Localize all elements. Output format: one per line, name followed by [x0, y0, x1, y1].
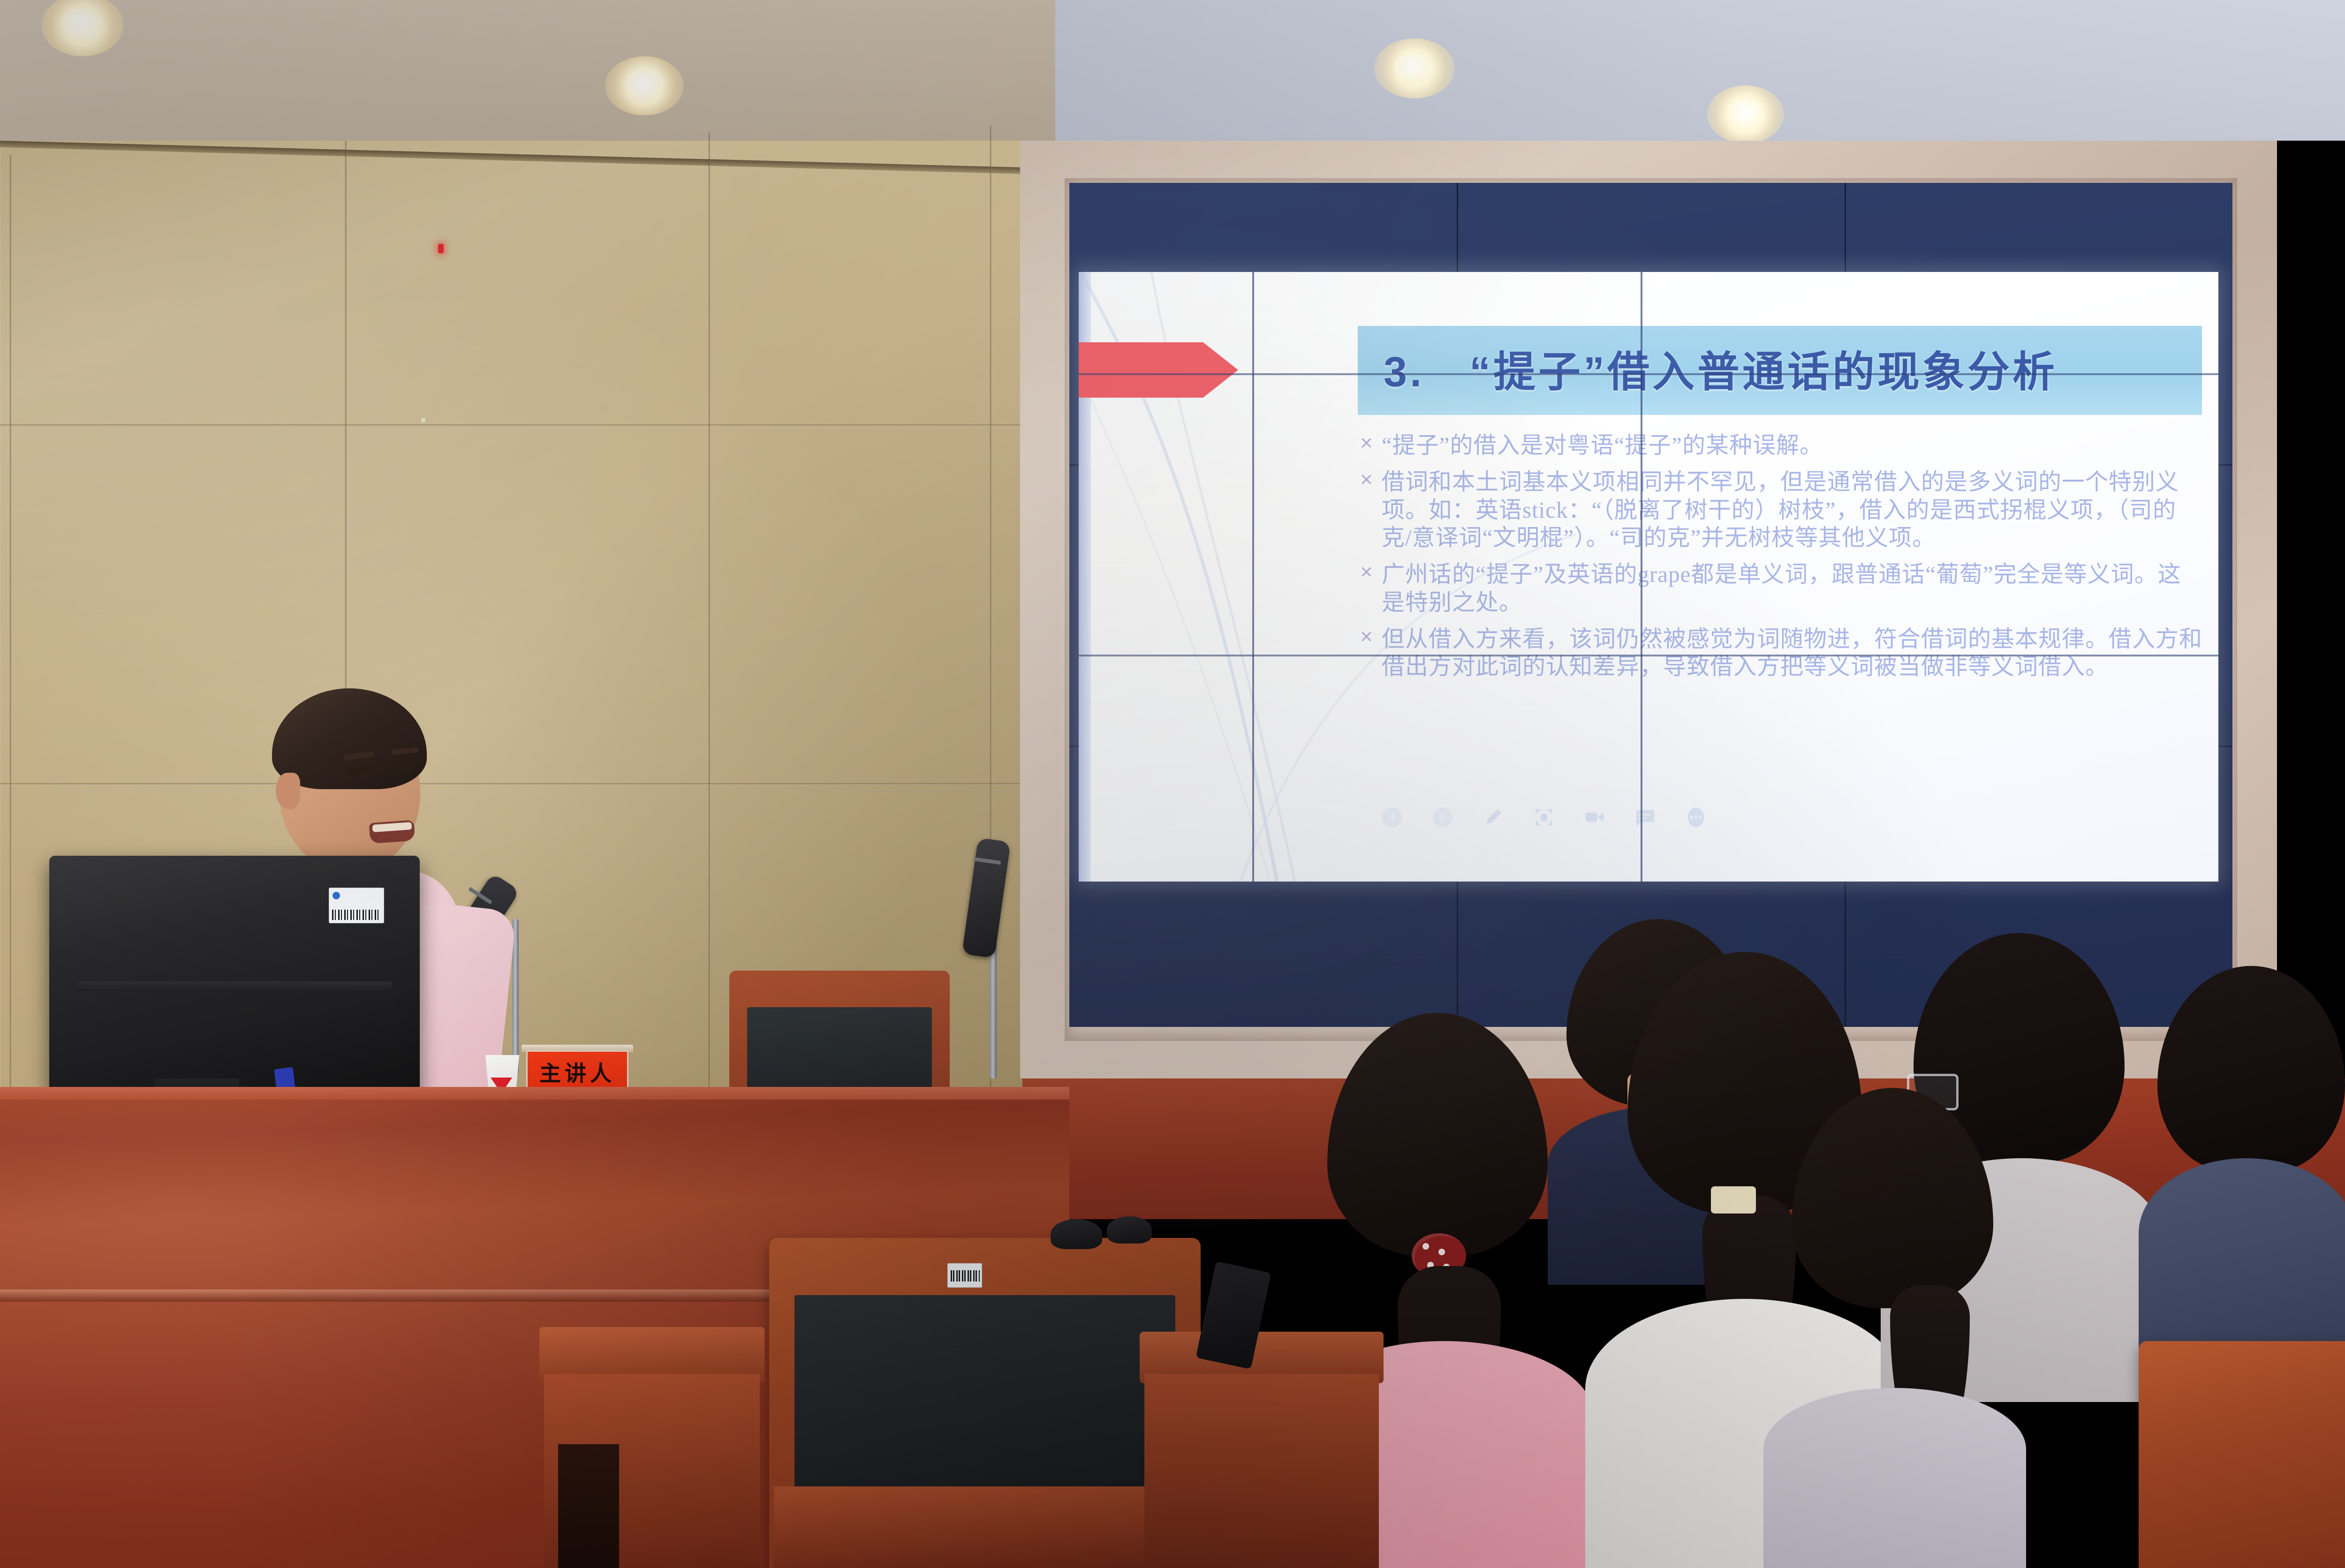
ceiling-right: [1055, 0, 2345, 141]
monitor-asset-label-logo: [333, 892, 340, 899]
bullet-text-3: 广州话的“提子”及英语的grape都是单义词，跟普通话“葡萄”完全是等义词。这是…: [1382, 560, 2204, 617]
wall-screw-cap: [421, 418, 425, 422]
audience-person-6-hair: [1792, 1088, 1993, 1308]
wall-seam-v-1: [9, 155, 12, 1107]
lecture-hall-photo: 3. “提子”借入普通话的现象分析 × “提子”的借入是对粤语“提子”的某种误解…: [0, 0, 2345, 1568]
wall-seam-h-1: [0, 424, 1074, 427]
auditorium-desk-left-shadow-gap: [558, 1444, 619, 1568]
auditorium-desk-right-body: [1144, 1374, 1379, 1568]
subtitle-caption-icon[interactable]: [1634, 807, 1656, 828]
pen-annotate-icon[interactable]: [1483, 807, 1504, 828]
audience-person-5-hair: [2157, 966, 2345, 1172]
ceiling-downlight-4-core: [1727, 99, 1764, 126]
slide-playback-toolbar[interactable]: [1381, 807, 1707, 828]
presenter-monitor: [49, 856, 420, 1095]
slide-bezel-seam-h-2: [1079, 655, 2218, 656]
auditorium-seat-center-base: [774, 1486, 1196, 1568]
ceiling-downlight-2-core: [625, 70, 663, 98]
headphones-on-seat-2: [1107, 1216, 1152, 1244]
more-options-icon[interactable]: [1685, 807, 1707, 828]
presentation-slide: 3. “提子”借入普通话的现象分析 × “提子”的借入是对粤语“提子”的某种误解…: [1079, 272, 2218, 882]
bullet-marker-icon: ×: [1360, 625, 1382, 648]
auditorium-seat-center-asset-tag: [947, 1263, 982, 1288]
slide-title: 3. “提子”借入普通话的现象分析: [1384, 338, 2200, 399]
monitor-vent: [77, 981, 392, 991]
ceiling-downlight-1-core: [61, 8, 101, 38]
nameplate-text: 主讲人: [539, 1056, 615, 1087]
auditorium-seat-right[interactable]: [2139, 1341, 2345, 1568]
bullet-marker-icon: ×: [1360, 431, 1382, 454]
wall-seam-h-2: [0, 783, 1074, 785]
bullet-marker-icon: ×: [1360, 560, 1382, 583]
laser-pointer-icon[interactable]: [1533, 807, 1555, 828]
audience-person-5: [2139, 966, 2345, 1388]
video-record-icon[interactable]: [1584, 807, 1605, 828]
ceiling-downlight-3-core: [1394, 53, 1433, 80]
auditorium-seat-center-asset-barcode: [951, 1270, 980, 1282]
slide-bullet-list: × “提子”的借入是对粤语“提子”的某种误解。 × 借词和本土词基本义项相同并不…: [1360, 431, 2204, 689]
wall-seam-v-3: [708, 132, 711, 1107]
audience-person-6: [1763, 1088, 2026, 1568]
monitor-asset-barcode: [332, 910, 381, 920]
auditorium-seat-right-frame: [2139, 1341, 2345, 1568]
wall-indicator-led: [438, 244, 444, 253]
red-callout-arrow: [1079, 342, 1238, 398]
play-slide-icon[interactable]: [1432, 807, 1453, 828]
bullet-marker-icon: ×: [1360, 468, 1382, 490]
monitor-asset-label: [329, 888, 384, 923]
slide-bezel-seam-v-1: [1252, 272, 1254, 882]
previous-slide-icon[interactable]: [1381, 807, 1403, 828]
speaker-ear: [276, 773, 300, 809]
audience-person-6-body: [1763, 1388, 2026, 1568]
slide-bezel-seam-h-1: [1079, 373, 2218, 375]
slide-bezel-seam-v-2: [1641, 272, 1642, 882]
bullet-text-2: 借词和本土词基本义项相同并不罕见，但是通常借入的是多义词的一个特别义项。如：英语…: [1382, 468, 2204, 552]
audience-person-3-hair-tie: [1711, 1186, 1756, 1214]
ceiling-left: [0, 0, 1079, 155]
slide-bullet-3: × 广州话的“提子”及英语的grape都是单义词，跟普通话“葡萄”完全是等义词。…: [1360, 560, 2204, 617]
audience-person-2-hair: [1327, 1013, 1548, 1257]
bullet-text-4: 但从借入方来看，该词仍然被感觉为词随物进，符合借词的基本规律。借入方和借出方对此…: [1382, 625, 2204, 681]
headphones-on-seat: [1051, 1219, 1102, 1249]
slide-bullet-4: × 但从借入方来看，该词仍然被感觉为词随物进，符合借词的基本规律。借入方和借出方…: [1360, 625, 2204, 681]
slide-bullet-2: × 借词和本土词基本义项相同并不罕见，但是通常借入的是多义词的一个特别义项。如：…: [1360, 468, 2204, 552]
slide-bullet-1: × “提子”的借入是对粤语“提子”的某种误解。: [1360, 431, 2204, 460]
speaker-eye-right: [393, 762, 415, 771]
bullet-text-1: “提子”的借入是对粤语“提子”的某种误解。: [1382, 431, 2204, 460]
